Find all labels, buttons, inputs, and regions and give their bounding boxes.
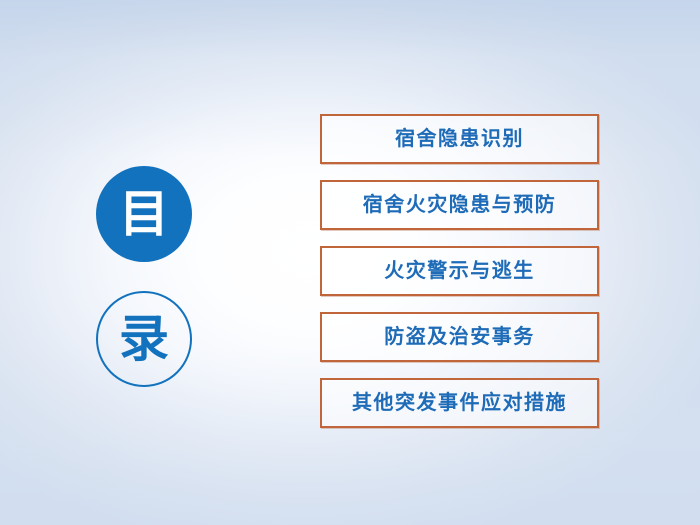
toc-item-label: 防盗及治安事务 — [384, 327, 535, 347]
toc-item-label: 其他突发事件应对措施 — [352, 393, 567, 413]
toc-item-4[interactable]: 防盗及治安事务 — [320, 312, 599, 362]
contents-emblem-lu-character: 录 — [119, 314, 169, 364]
toc-item-3[interactable]: 火灾警示与逃生 — [320, 246, 599, 296]
slide-canvas: 目 录 宿舍隐患识别 宿舍火灾隐患与预防 火灾警示与逃生 防盗及治安事务 其他突… — [0, 0, 700, 525]
contents-emblem-lu-circle: 录 — [96, 291, 192, 387]
toc-item-1[interactable]: 宿舍隐患识别 — [320, 114, 599, 164]
toc-item-label: 宿舍隐患识别 — [395, 129, 524, 149]
contents-emblem-group: 目 录 — [96, 166, 198, 387]
toc-item-5[interactable]: 其他突发事件应对措施 — [320, 378, 599, 428]
contents-emblem-mu-circle: 目 — [96, 166, 192, 262]
toc-item-label: 火灾警示与逃生 — [384, 261, 535, 281]
contents-emblem-mu-character: 目 — [119, 189, 169, 239]
toc-item-label: 宿舍火灾隐患与预防 — [363, 195, 557, 215]
table-of-contents-list: 宿舍隐患识别 宿舍火灾隐患与预防 火灾警示与逃生 防盗及治安事务 其他突发事件应… — [320, 114, 599, 428]
toc-item-2[interactable]: 宿舍火灾隐患与预防 — [320, 180, 599, 230]
